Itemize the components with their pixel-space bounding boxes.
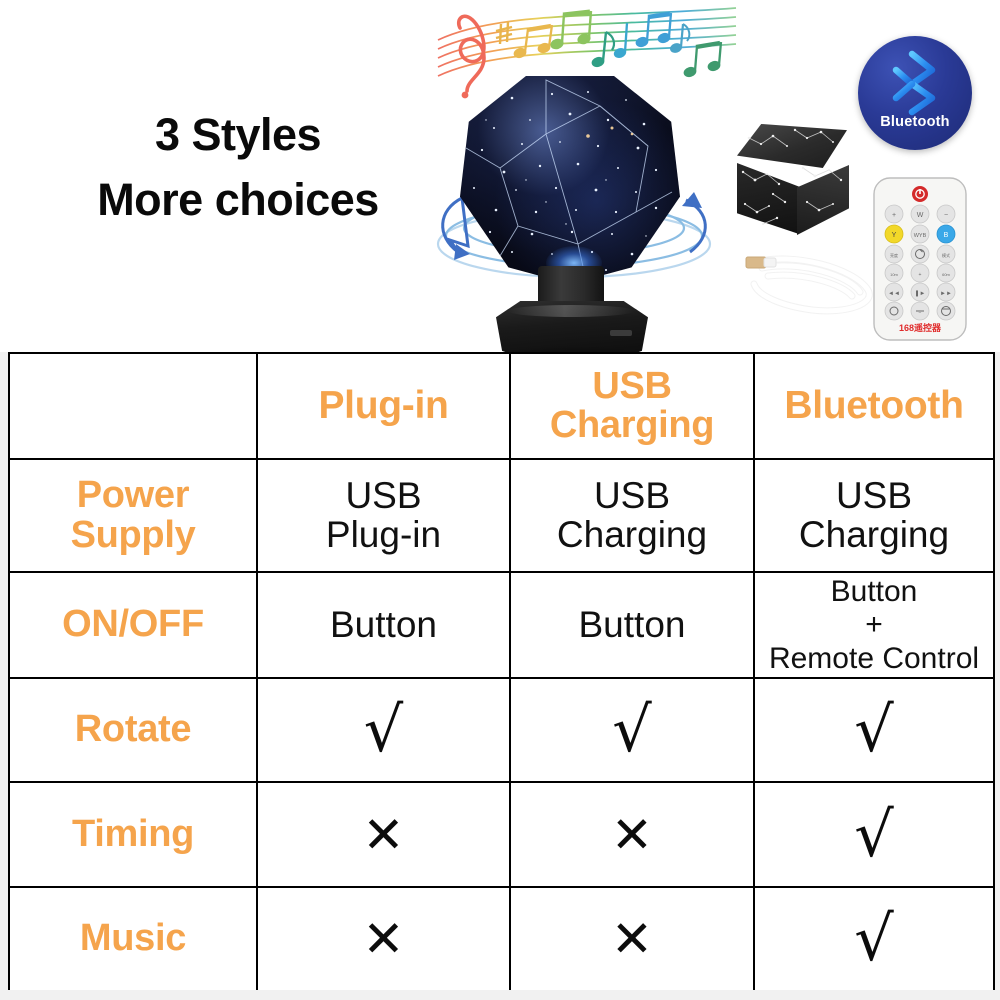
svg-text:60m: 60m: [942, 272, 950, 277]
hero-section: 3 Styles More choices: [0, 0, 1000, 352]
row-label-on-off-text: ON/OFF: [12, 605, 254, 645]
cell-text-line1: USB: [260, 477, 507, 516]
bluetooth-badge: Bluetooth: [858, 36, 972, 150]
cell-text-line2: Charging: [513, 516, 751, 555]
svg-text:◄◄: ◄◄: [888, 291, 900, 297]
product-gift-box: [733, 124, 855, 244]
check-mark-icon: √: [513, 699, 751, 761]
row-label-rotate: Rotate: [9, 678, 257, 782]
product-comparison-page: 3 Styles More choices: [0, 0, 1000, 1000]
cell-music-plug-in: ✕: [257, 887, 510, 991]
svg-text:Y: Y: [892, 232, 897, 239]
svg-text:亮度: 亮度: [890, 252, 898, 258]
cross-mark-icon: ✕: [513, 810, 751, 860]
row-label-rotate-text: Rotate: [12, 710, 254, 750]
svg-text:►►: ►►: [940, 291, 952, 297]
cell-text-line2: Remote Control: [757, 642, 991, 676]
row-label-music: Music: [9, 887, 257, 991]
remote-model-label: 168遥控器: [899, 322, 942, 333]
cell-on-off-usb-charging: Button: [510, 572, 754, 678]
row-label-power-supply-line1: Power: [12, 476, 254, 516]
cell-power-supply-plug-in: USB Plug-in: [257, 459, 510, 572]
star-projector-lamp: [438, 58, 708, 358]
cross-mark-icon: ✕: [260, 810, 507, 860]
remote-control: +W− WYB Y B 亮度模式 10m60m + ◄◄❚►►► − 168遥控…: [868, 176, 972, 342]
header-label-plug-in: Plug-in: [260, 386, 507, 426]
cell-rotate-bluetooth: √: [754, 678, 994, 782]
svg-text:W: W: [917, 212, 924, 219]
row-label-music-text: Music: [12, 919, 254, 959]
lamp-base-highlight: [508, 305, 634, 317]
header-label-usb-charging-line2: Charging: [513, 406, 751, 445]
cell-music-bluetooth: √: [754, 887, 994, 991]
svg-text:+: +: [919, 272, 922, 278]
row-label-power-supply: Power Supply: [9, 459, 257, 572]
cell-text-line1: Button: [757, 575, 991, 609]
table-row-power-supply: Power Supply USB Plug-in USB Charging US…: [9, 459, 994, 572]
check-mark-icon: √: [757, 804, 991, 866]
cell-text-line1: Button: [260, 606, 507, 645]
table-row-music: Music ✕ ✕ √: [9, 887, 994, 991]
bottom-gutter: [0, 990, 1000, 1000]
check-mark-icon: √: [757, 908, 991, 970]
headline-line-1: 3 Styles: [48, 102, 428, 167]
header-cell-corner: [9, 353, 257, 459]
svg-text:−: −: [944, 212, 948, 219]
svg-text:WYB: WYB: [914, 233, 927, 239]
row-label-power-supply-line2: Supply: [12, 516, 254, 556]
check-mark-icon: √: [757, 699, 991, 761]
table-row-timing: Timing ✕ ✕ √: [9, 782, 994, 887]
row-label-on-off: ON/OFF: [9, 572, 257, 678]
cell-on-off-plug-in: Button: [257, 572, 510, 678]
cross-mark-icon: ✕: [260, 914, 507, 964]
header-cell-usb-charging: USB Charging: [510, 353, 754, 459]
row-label-timing: Timing: [9, 782, 257, 887]
cell-rotate-usb-charging: √: [510, 678, 754, 782]
bluetooth-icon: [886, 50, 944, 116]
table-header-row: Plug-in USB Charging Bluetooth: [9, 353, 994, 459]
cell-text-plus: +: [757, 608, 991, 642]
cell-power-supply-usb-charging: USB Charging: [510, 459, 754, 572]
lamp-usb-port: [610, 330, 632, 336]
svg-text:B: B: [944, 232, 949, 239]
cell-text-line2: Charging: [757, 516, 991, 555]
cell-power-supply-bluetooth: USB Charging: [754, 459, 994, 572]
cell-text-line1: USB: [513, 477, 751, 516]
comparison-table: Plug-in USB Charging Bluetooth Power Sup…: [8, 352, 995, 992]
cell-text-line2: Plug-in: [260, 516, 507, 555]
svg-text:模式: 模式: [942, 252, 950, 258]
cell-rotate-plug-in: √: [257, 678, 510, 782]
cell-on-off-bluetooth: Button + Remote Control: [754, 572, 994, 678]
svg-text:+: +: [892, 212, 896, 219]
svg-text:❚►: ❚►: [915, 290, 926, 297]
cell-timing-plug-in: ✕: [257, 782, 510, 887]
usb-cable: [742, 246, 880, 324]
header-cell-bluetooth: Bluetooth: [754, 353, 994, 459]
bluetooth-badge-label: Bluetooth: [858, 114, 972, 130]
svg-text:10m: 10m: [890, 272, 898, 277]
check-mark-icon: √: [260, 699, 507, 761]
page-title: 3 Styles More choices: [48, 102, 428, 233]
table-row-rotate: Rotate √ √ √: [9, 678, 994, 782]
table-row-on-off: ON/OFF Button Button Button + Remote Con…: [9, 572, 994, 678]
header-label-usb-charging-line1: USB: [513, 367, 751, 406]
comparison-table-wrapper: Plug-in USB Charging Bluetooth Power Sup…: [8, 352, 993, 990]
header-cell-plug-in: Plug-in: [257, 353, 510, 459]
cell-music-usb-charging: ✕: [510, 887, 754, 991]
headline-line-2: More choices: [48, 167, 428, 232]
row-label-timing-text: Timing: [12, 815, 254, 855]
header-label-bluetooth: Bluetooth: [757, 386, 991, 426]
cross-mark-icon: ✕: [513, 914, 751, 964]
cell-text-line1: Button: [513, 606, 751, 645]
cell-text-line1: USB: [757, 477, 991, 516]
cell-timing-usb-charging: ✕: [510, 782, 754, 887]
cell-timing-bluetooth: √: [754, 782, 994, 887]
constellation-pattern: [733, 124, 855, 244]
